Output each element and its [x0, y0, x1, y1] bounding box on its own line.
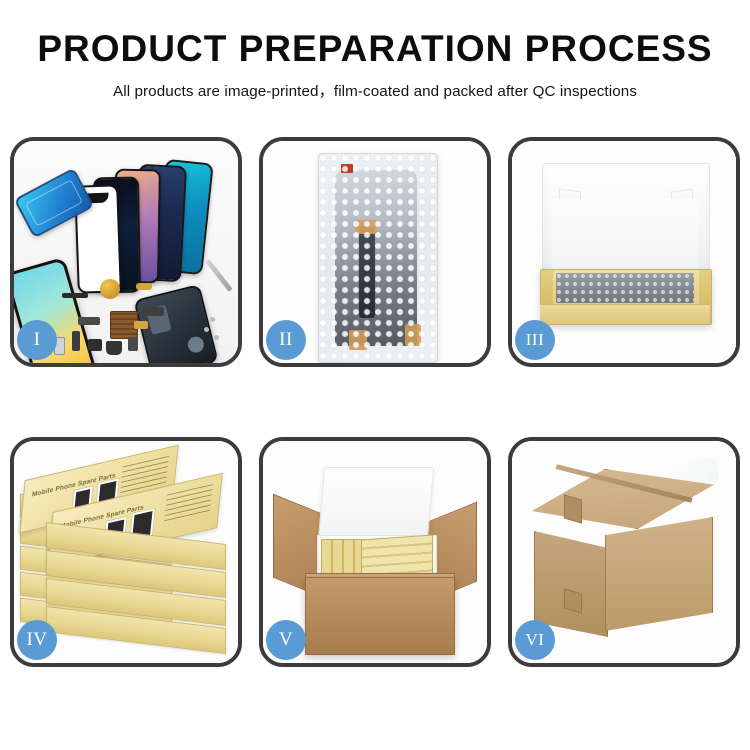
carton-right-face [605, 517, 713, 631]
bubble-wrapped-contents [556, 273, 694, 303]
step-badge-6: VI [515, 620, 555, 660]
process-step-panel-5: V [259, 437, 491, 667]
foam-liner [552, 199, 698, 275]
carton-left-face [534, 531, 608, 637]
spare-part [106, 341, 122, 355]
gold-box-front-edge [540, 304, 710, 324]
spare-part [136, 283, 152, 290]
spare-part [128, 337, 138, 351]
spare-part [100, 279, 120, 299]
step-badge-1: I [17, 320, 57, 360]
screw-part [210, 317, 215, 322]
foam-lid [318, 467, 434, 541]
page-subtitle: All products are image-printed，film-coat… [0, 79, 750, 101]
lid-spec-text [164, 484, 213, 525]
carton-tape-patch [564, 494, 582, 523]
spare-part [72, 331, 80, 351]
screw-part [214, 335, 219, 340]
header: PRODUCT PREPARATION PROCESS All products… [0, 0, 750, 101]
spare-part [142, 307, 164, 316]
process-step-panel-2: II [259, 137, 491, 367]
page-title: PRODUCT PREPARATION PROCESS [0, 30, 750, 69]
process-step-panel-4: Mobile Phone Spare Parts Mobile Phone Sp… [10, 437, 242, 667]
screw-part [204, 327, 209, 332]
step-badge-2: II [266, 320, 306, 360]
carton-body [534, 517, 710, 633]
process-step-grid: I II [10, 137, 740, 667]
shipping-carton-open [305, 577, 455, 655]
spare-part [62, 293, 88, 298]
step-badge-4: IV [17, 620, 57, 660]
bubble-texture-overlay [319, 154, 437, 362]
bubble-wrap-bag [318, 153, 438, 363]
process-step-panel-1: I [10, 137, 242, 367]
spare-part [88, 339, 102, 351]
tweezers-icon [205, 259, 232, 292]
step-badge-5: V [266, 620, 306, 660]
spare-part [134, 321, 148, 329]
spare-part [78, 317, 100, 325]
process-step-panel-6: VI [508, 437, 740, 667]
step-badge-3: III [515, 320, 555, 360]
process-step-panel-3: III [508, 137, 740, 367]
